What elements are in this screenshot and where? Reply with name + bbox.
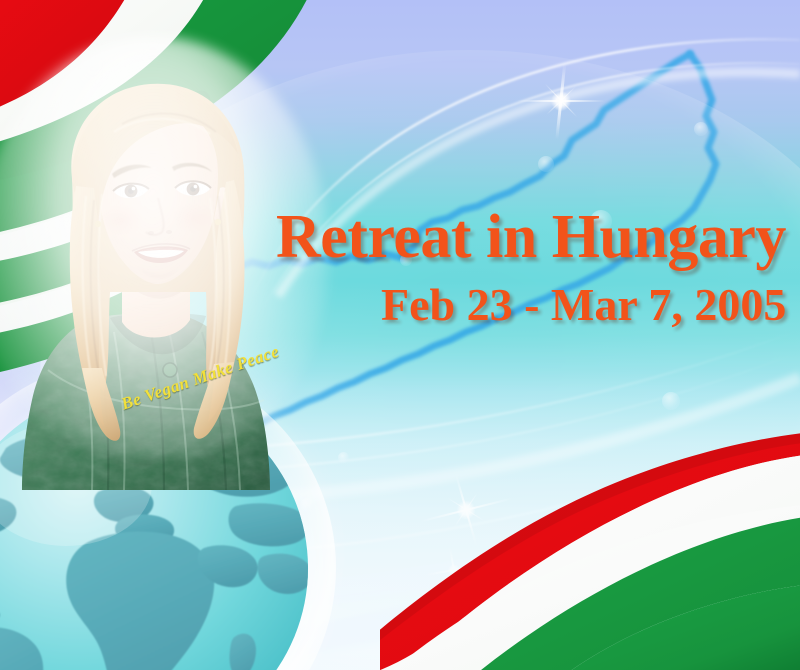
event-dates: Feb 23 - Mar 7, 2005	[381, 282, 786, 328]
page-title: Retreat in Hungary	[276, 206, 786, 268]
person-portrait: Be Vegan Make Peace	[18, 70, 288, 490]
poster-canvas: Be Vegan Make Peace Retreat in Hungary F…	[0, 0, 800, 670]
hungarian-flag-ribbon-bottom-right	[380, 370, 800, 670]
